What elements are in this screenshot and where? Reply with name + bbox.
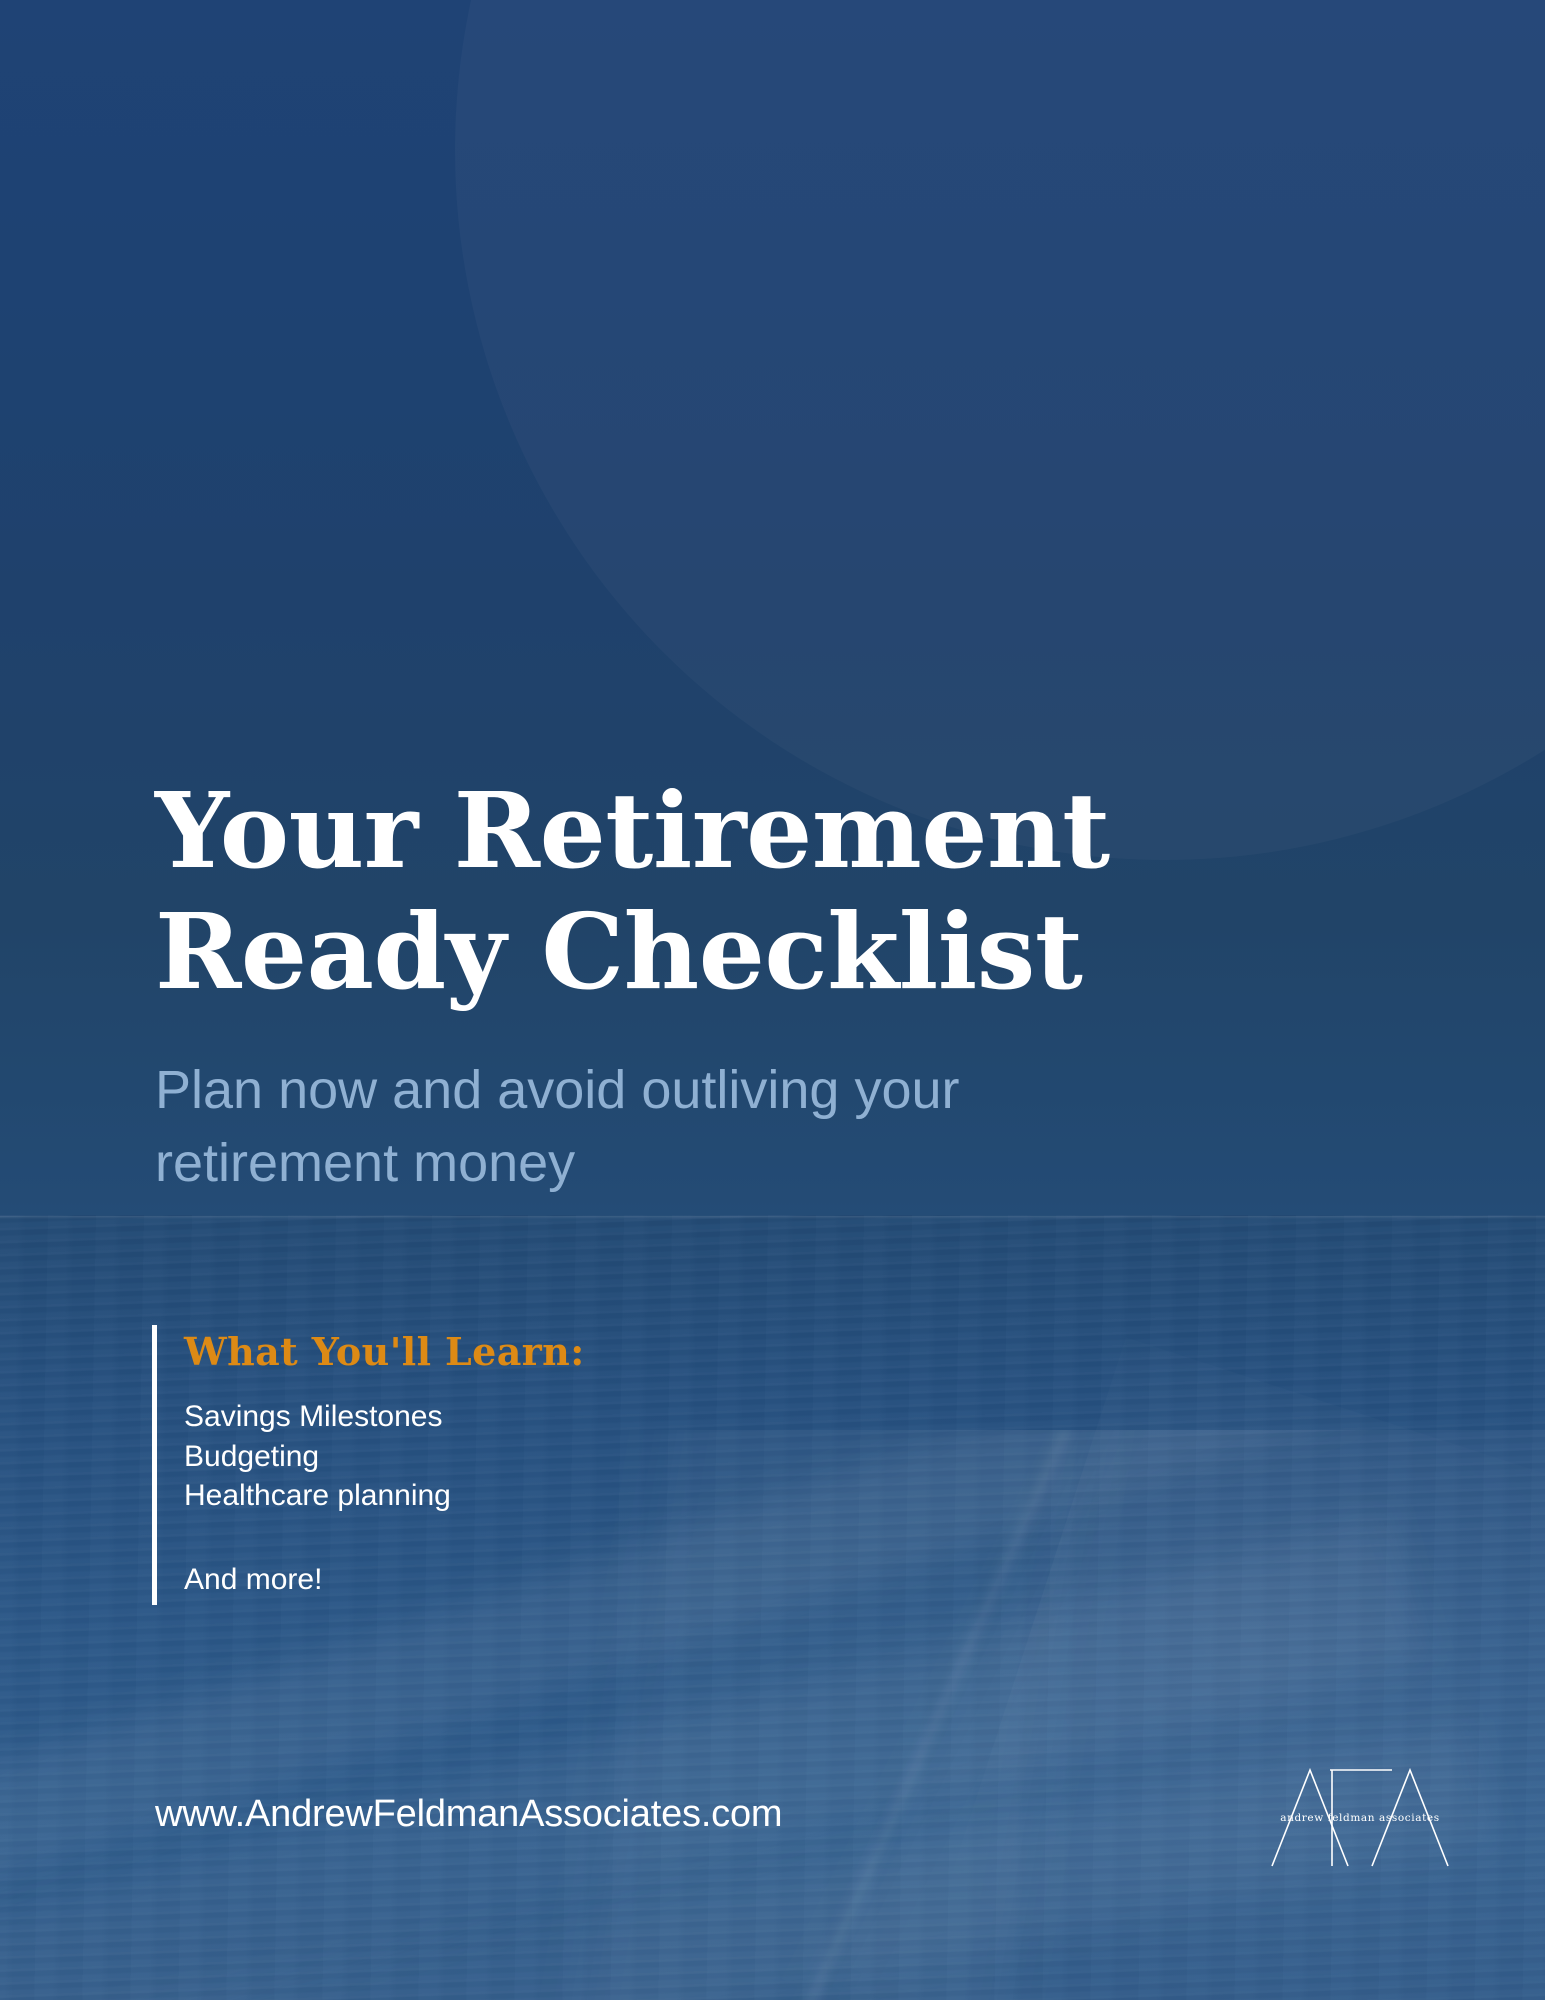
page-subtitle: Plan now and avoid outliving your retire… — [155, 1054, 1175, 1201]
list-item: Savings Milestones — [184, 1397, 585, 1437]
afa-logo: andrew feldman associates — [1262, 1760, 1458, 1872]
list-item: Healthcare planning — [184, 1476, 585, 1516]
vertical-accent-rule — [152, 1325, 157, 1605]
what-youll-learn-list: Savings Milestones Budgeting Healthcare … — [184, 1397, 585, 1516]
what-youll-learn-block: What You'll Learn: Savings Milestones Bu… — [152, 1325, 585, 1598]
page-title: Your Retirement Ready Checklist — [155, 770, 1225, 1013]
afa-logo-wordmark: andrew feldman associates — [1262, 1812, 1458, 1824]
website-url[interactable]: www.AndrewFeldmanAssociates.com — [155, 1795, 782, 1833]
what-youll-learn-heading: What You'll Learn: — [184, 1333, 585, 1371]
page-title-line-1: Your Retirement — [155, 770, 1225, 892]
and-more-label: And more! — [184, 1562, 585, 1598]
cover-content: Your Retirement Ready Checklist Plan now… — [0, 0, 1545, 2000]
list-item: Budgeting — [184, 1437, 585, 1477]
page-title-line-2: Ready Checklist — [155, 891, 1225, 1013]
cover-page: Your Retirement Ready Checklist Plan now… — [0, 0, 1545, 2000]
